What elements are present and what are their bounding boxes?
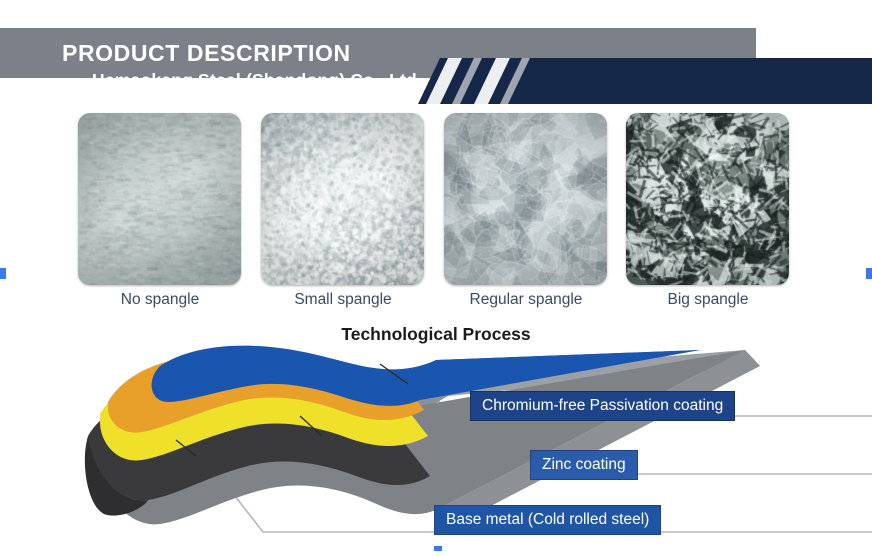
spangle-texture-small [261,113,424,285]
spangle-texture-big [626,113,789,285]
brand-banner-shape [418,58,872,104]
edge-marker-bottom [434,546,442,551]
spangle-label-regular: Regular spangle [426,291,626,309]
edge-marker-left [0,268,6,279]
spangle-sample-regular [444,113,607,285]
page-title: PRODUCT DESCRIPTION [62,40,351,67]
edge-marker-right [866,268,872,279]
brand-banner [418,58,872,104]
spangle-sample-row [0,113,872,288]
spangle-label-no: No spangle [60,291,260,309]
spangle-label-small: Small spangle [243,291,443,309]
spangle-texture-regular [444,113,607,285]
spangle-sample-no [78,113,241,285]
spangle-label-big: Big spangle [608,291,808,309]
callout-zinc: Zinc coating [530,450,638,480]
callout-base-metal: Base metal (Cold rolled steel) [434,505,661,535]
process-title: Technological Process [0,324,872,345]
brand-name: Hemaokang Steel (Shandong) Co., Ltd [92,70,417,91]
spangle-sample-small [261,113,424,285]
spangle-sample-big [626,113,789,285]
spangle-texture-no [78,113,241,285]
process-title-text: Technological Process [341,324,530,344]
callout-passivation: Chromium-free Passivation coating [470,391,735,421]
product-description-page: PRODUCT DESCRIPTION Hemaokang Steel (Sha… [0,0,872,551]
